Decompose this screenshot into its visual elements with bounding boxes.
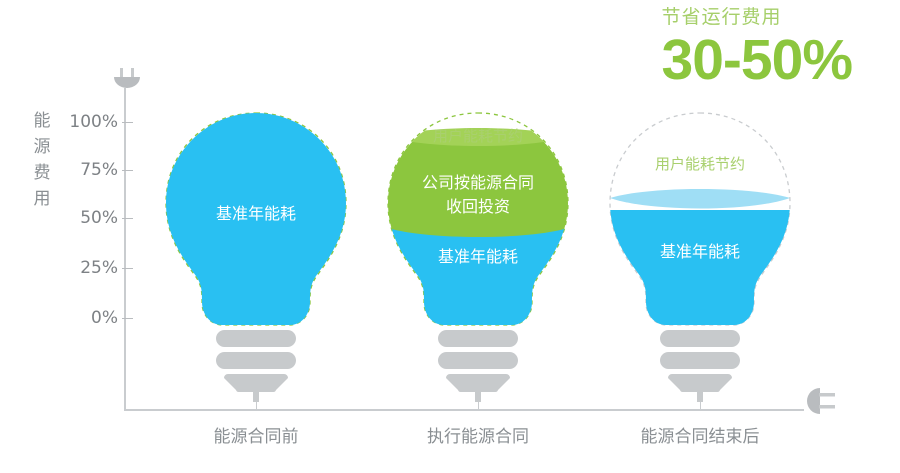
y-axis-title-char-1: 能 <box>30 108 54 134</box>
y-tick-mark-75 <box>122 170 133 171</box>
bulb-saving-label: 用户能耗节约 <box>610 153 790 174</box>
bulb-fill-clip <box>610 113 790 325</box>
base-ring-1 <box>438 330 518 347</box>
x-axis-line <box>124 409 804 411</box>
headline-value: 30-50% <box>662 30 852 90</box>
y-tick-label-0: 0% <box>58 308 118 328</box>
base-stem <box>253 388 259 402</box>
infographic-canvas: 节省运行费用 30-50% 能 源 费 用 100% 75% 50% 25% 0… <box>0 0 900 473</box>
plug-icon <box>112 68 142 99</box>
y-axis-title-char-2: 源 <box>30 134 54 160</box>
bulb-segment-baseline <box>166 113 346 325</box>
y-axis-title: 能 源 费 用 <box>30 108 54 212</box>
bulb-fill-clip <box>166 113 346 325</box>
headline-subtitle: 节省运行费用 <box>662 4 852 30</box>
base-ring-2 <box>660 352 740 369</box>
bulb-during-contract: 用户能耗节约 公司按能源合同 收回投资 基准年能耗 <box>388 113 568 325</box>
y-tick-label-25: 25% <box>58 258 118 278</box>
y-axis-line <box>124 88 126 410</box>
base-stem <box>697 388 703 402</box>
bulb-segment-investment <box>388 137 568 237</box>
bulb-glass-shape <box>166 113 346 325</box>
bulb-segment-baseline <box>610 210 790 325</box>
bulb-before-contract: 基准年能耗 <box>166 113 346 325</box>
base-stem <box>475 388 481 402</box>
y-tick-mark-50 <box>122 218 133 219</box>
y-axis-title-char-3: 费 <box>30 160 54 186</box>
y-tick-label-50: 50% <box>58 208 118 228</box>
base-ring-1 <box>216 330 296 347</box>
bulb-saving-label: 用户能耗节约 <box>388 125 568 146</box>
base-ring-2 <box>438 352 518 369</box>
bulb-base-3 <box>610 330 790 392</box>
y-tick-label-100: 100% <box>58 112 118 132</box>
y-tick-mark-100 <box>122 122 133 123</box>
y-tick-label-75: 75% <box>58 160 118 180</box>
bulb-glass-shape <box>610 113 790 325</box>
headline-block: 节省运行费用 30-50% <box>662 4 852 90</box>
socket-icon <box>806 386 840 421</box>
bulb-segment-baseline <box>388 228 568 325</box>
bulb-after-contract: 用户能耗节约 基准年能耗 <box>610 113 790 325</box>
y-tick-mark-25 <box>122 268 133 269</box>
y-axis-title-char-4: 用 <box>30 186 54 212</box>
x-axis-label-3: 能源合同结束后 <box>610 422 790 447</box>
bulb-base-2 <box>388 330 568 392</box>
base-ring-2 <box>216 352 296 369</box>
bulb-base-1 <box>166 330 346 392</box>
base-ring-1 <box>660 330 740 347</box>
y-tick-mark-0 <box>122 318 133 319</box>
x-axis-label-1: 能源合同前 <box>166 422 346 447</box>
x-axis-label-2: 执行能源合同 <box>388 422 568 447</box>
